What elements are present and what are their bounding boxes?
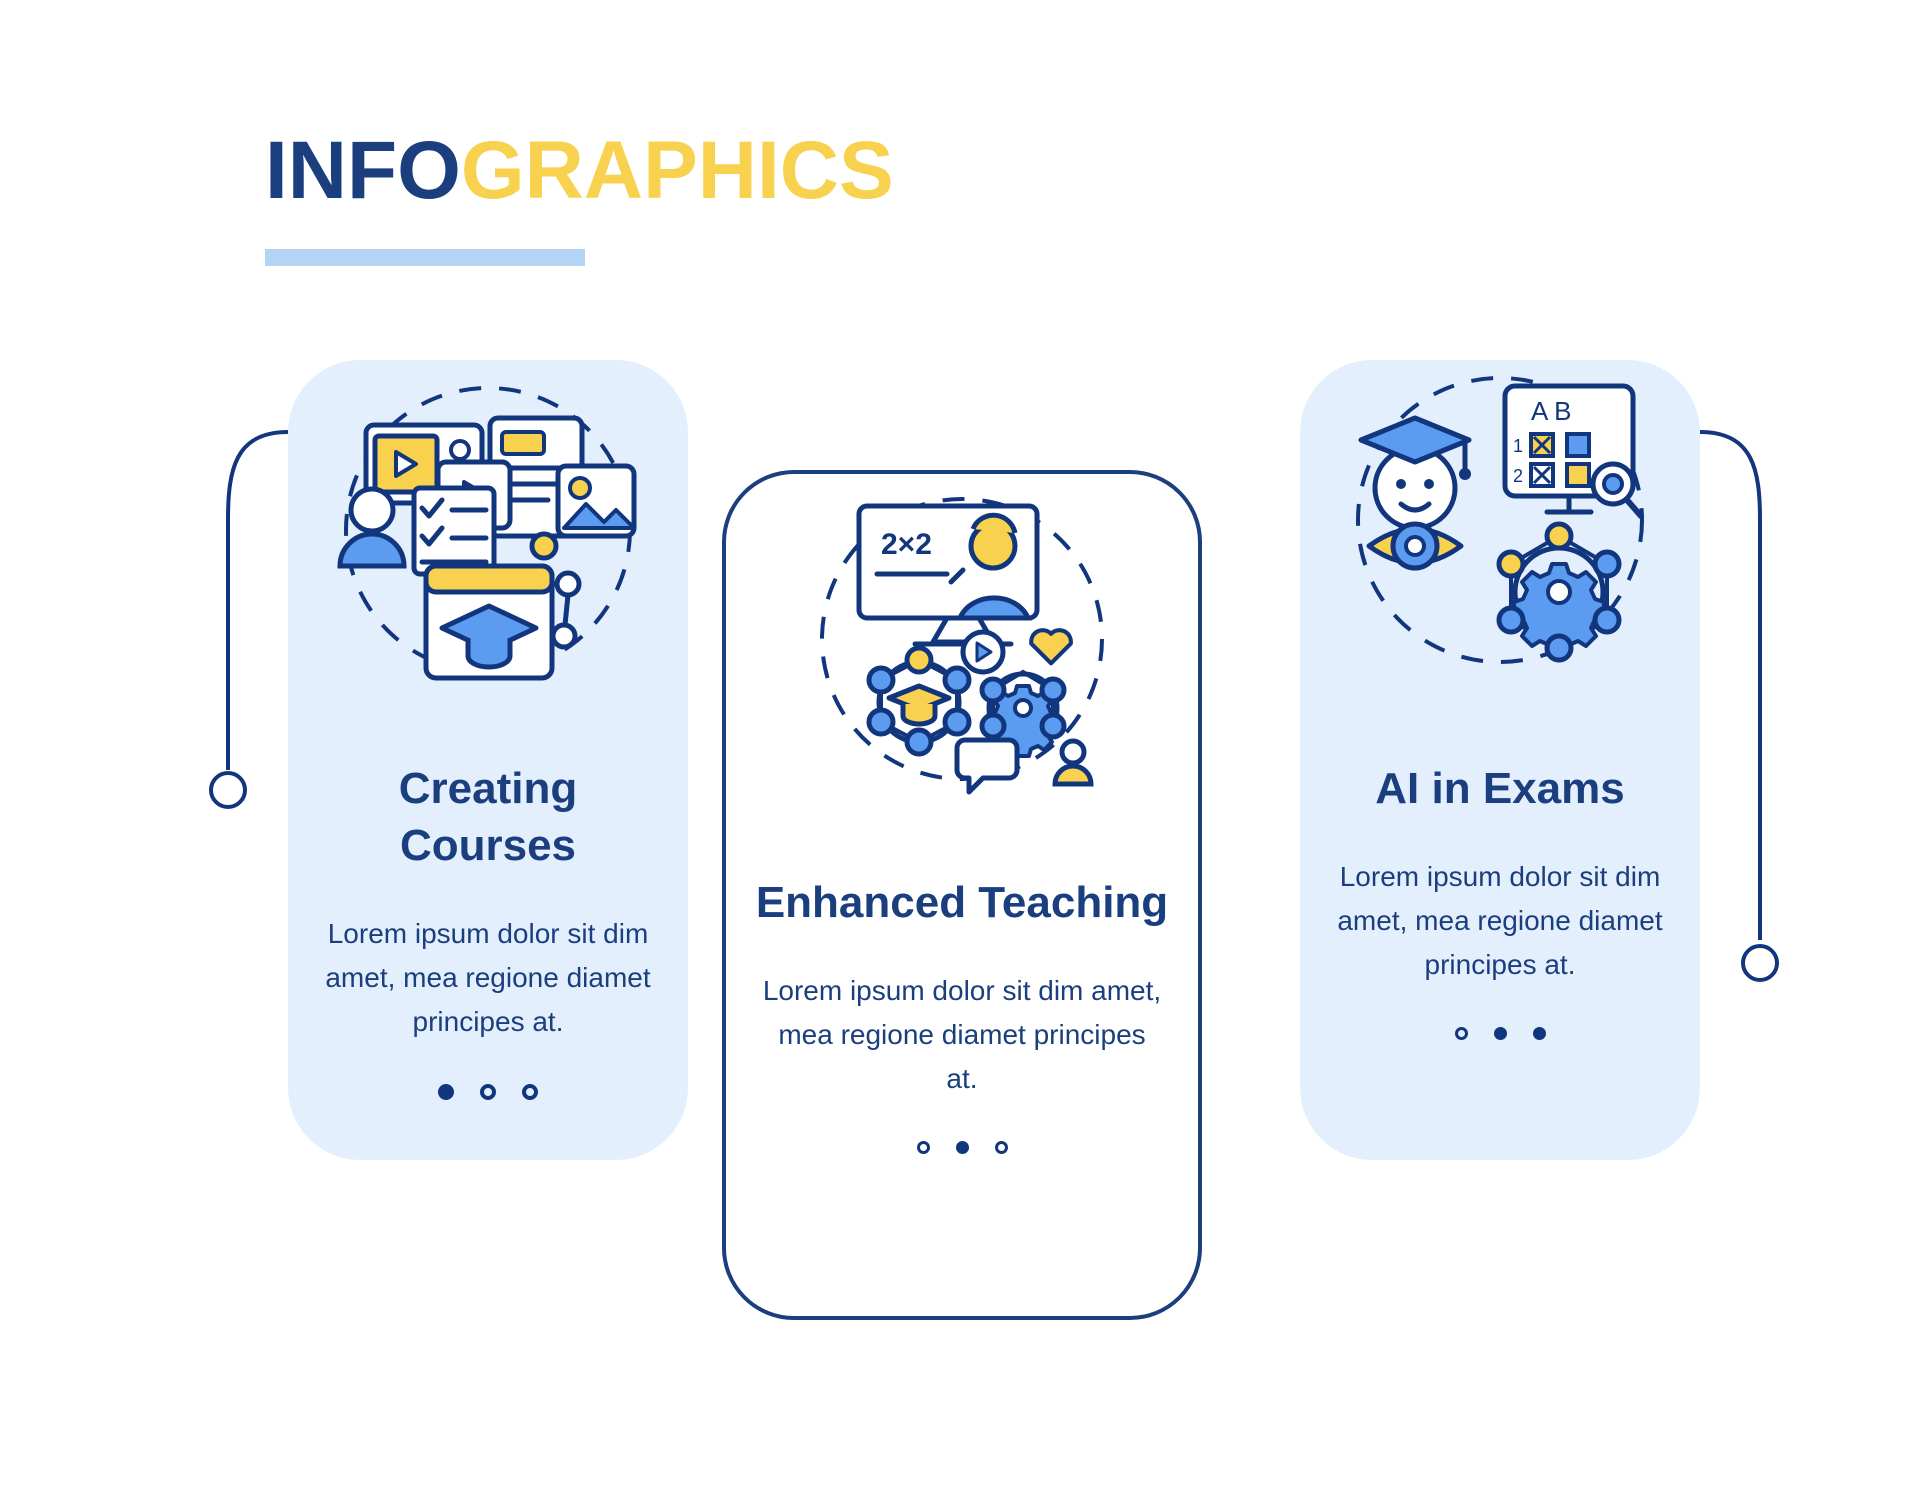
illustration-course-creation <box>288 360 688 760</box>
title-part-graphics: GRAPHICS <box>461 125 894 216</box>
page-title: INFOGRAPHICS <box>265 128 894 214</box>
progress-dot[interactable] <box>480 1084 496 1100</box>
progress-dot[interactable] <box>1533 1027 1546 1040</box>
progress-dots[interactable] <box>1455 1027 1546 1040</box>
progress-dot[interactable] <box>522 1084 538 1100</box>
progress-dot[interactable] <box>995 1141 1008 1154</box>
card-body-text: Lorem ipsum dolor sit dim amet, mea regi… <box>726 969 1198 1101</box>
svg-text:A B: A B <box>1531 396 1571 426</box>
card-body-text: Lorem ipsum dolor sit dim amet, mea regi… <box>1300 855 1700 987</box>
illustration-ai-exams: A B 1 2 <box>1300 360 1700 760</box>
card-enhanced-teaching[interactable]: 2×2 <box>722 470 1202 1320</box>
card-title: AI in Exams <box>1351 760 1648 817</box>
infographic-canvas: INFOGRAPHICS <box>0 0 1920 1506</box>
progress-dot[interactable] <box>1494 1027 1507 1040</box>
progress-dot[interactable] <box>917 1141 930 1154</box>
svg-text:2: 2 <box>1513 466 1523 486</box>
progress-dot[interactable] <box>1455 1027 1468 1040</box>
progress-dots[interactable] <box>917 1141 1008 1154</box>
svg-text:2×2: 2×2 <box>881 528 932 561</box>
card-title: Enhanced Teaching <box>732 874 1192 931</box>
progress-dots[interactable] <box>438 1084 538 1100</box>
svg-text:1: 1 <box>1513 436 1523 456</box>
card-creating-courses[interactable]: Creating Courses Lorem ipsum dolor sit d… <box>288 360 688 1160</box>
progress-dot[interactable] <box>438 1084 454 1100</box>
illustration-enhanced-teaching: 2×2 <box>726 474 1198 874</box>
card-ai-in-exams[interactable]: A B 1 2 <box>1300 360 1700 1160</box>
card-title: Creating Courses <box>288 760 688 874</box>
title-underline-bar <box>265 249 585 266</box>
title-part-info: INFO <box>265 125 461 216</box>
card-body-text: Lorem ipsum dolor sit dim amet, mea regi… <box>288 912 688 1044</box>
progress-dot[interactable] <box>956 1141 969 1154</box>
